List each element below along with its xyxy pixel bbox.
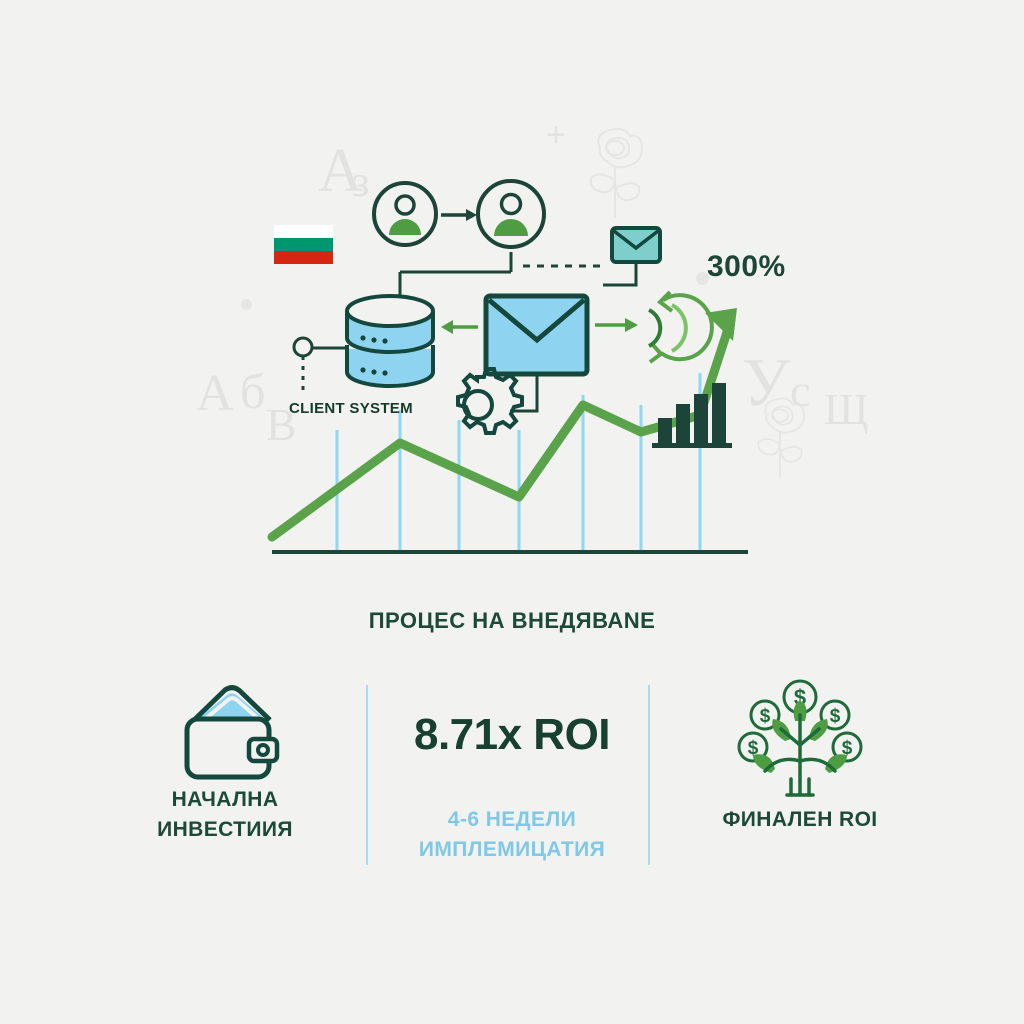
money-tree-icon: $ $ $ $ $ <box>735 675 865 805</box>
svg-text:$: $ <box>830 706 841 727</box>
metric-label-final-roi: ФИНАЛЕН ROI <box>670 805 930 835</box>
user-source-icon <box>374 183 436 245</box>
database-icon <box>347 296 433 387</box>
infographic-canvas: А з А б В У с Щ + <box>0 0 1024 1024</box>
metrics-divider-left <box>366 685 368 865</box>
metric-label-line2: ИНВЕСТИИЯ <box>95 815 355 845</box>
svg-text:$: $ <box>760 706 771 727</box>
bulgaria-flag-icon <box>274 225 333 264</box>
wallet-icon <box>165 675 285 785</box>
growth-percentage-label: 300% <box>707 250 786 284</box>
small-envelope-icon <box>612 228 660 262</box>
metric-final-roi: $ $ $ $ $ <box>670 675 930 835</box>
metric-roi-center: 8.71x ROI 4-6 НЕДЕЛИ ИМПЛЕМИЦАТИЯ <box>382 710 642 865</box>
envelope-to-database-arrow-icon <box>441 320 478 334</box>
roi-headline: 8.71x ROI <box>382 710 642 760</box>
envelope-to-sync-arrow-icon <box>595 318 638 332</box>
metrics-row: НАЧАЛНА ИНВЕСТИИЯ 8.71x ROI 4-6 НЕДЕЛИ И… <box>0 655 1024 915</box>
section-title: ПРОЦЕС НА ВНЕДЯВАNE <box>0 608 1024 634</box>
implementation-line1: 4-6 НЕДЕЛИ <box>382 805 642 835</box>
large-envelope-icon <box>486 296 587 374</box>
gear-icon <box>458 369 522 433</box>
implementation-line2: ИМПЛЕМИЦАТИЯ <box>382 835 642 865</box>
metric-initial-investment: НАЧАЛНА ИНВЕСТИИЯ <box>95 675 355 845</box>
metrics-divider-right <box>648 685 650 865</box>
user-flow-arrow-icon <box>441 209 477 221</box>
user-target-icon <box>478 181 544 247</box>
sync-arrows-icon <box>649 292 712 362</box>
client-system-label: CLIENT SYSTEM <box>289 400 413 417</box>
metric-label-line1: НАЧАЛНА <box>95 785 355 815</box>
